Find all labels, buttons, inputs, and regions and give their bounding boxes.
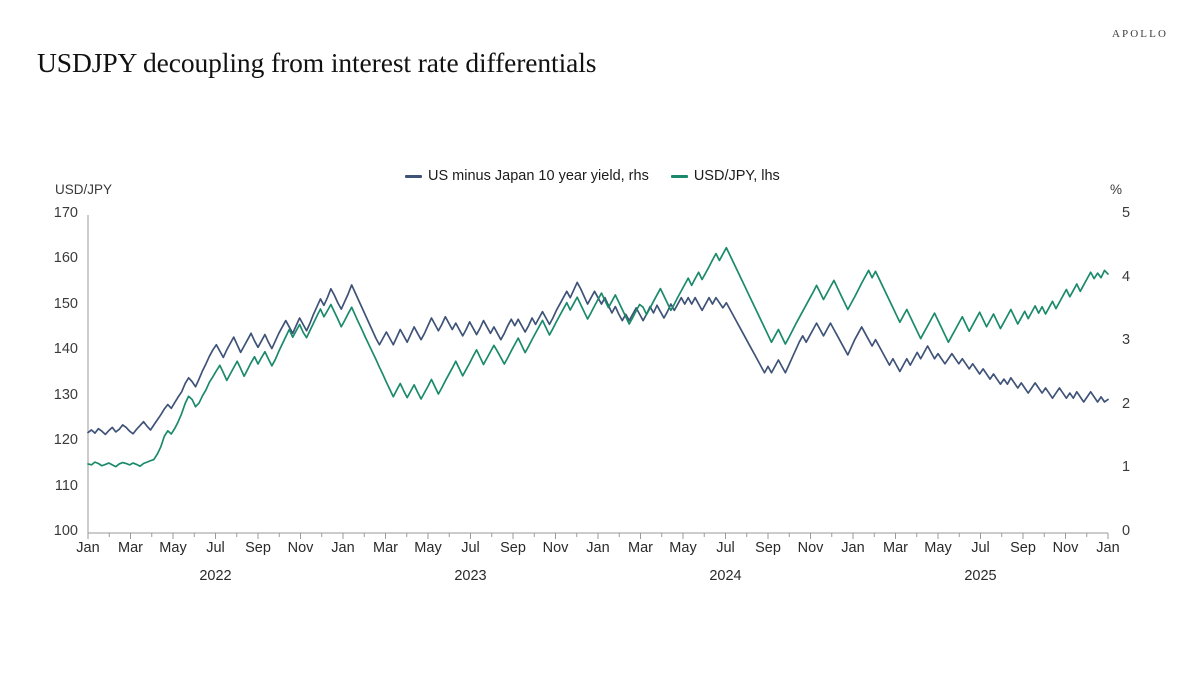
axis-group <box>88 215 1108 533</box>
x-axis-tick-label: May <box>414 540 441 556</box>
right-axis-tick-label: 2 <box>1122 396 1146 412</box>
legend-item-yield: US minus Japan 10 year yield, rhs <box>405 168 649 184</box>
x-axis-tick-label: Jan <box>76 540 99 556</box>
x-axis-tick-label: Mar <box>883 540 908 556</box>
page-title: USDJPY decoupling from interest rate dif… <box>37 47 596 79</box>
left-axis-tick-label: 150 <box>34 296 78 312</box>
x-axis-tick-label: May <box>159 540 186 556</box>
x-axis-tick-label: Sep <box>245 540 271 556</box>
x-axis-tick-label: Jan <box>841 540 864 556</box>
x-axis-tick-label: Mar <box>118 540 143 556</box>
x-axis-tick-label: Jul <box>716 540 735 556</box>
x-axis-tick-label: Nov <box>543 540 569 556</box>
left-axis-tick-label: 140 <box>34 341 78 357</box>
left-axis-unit: USD/JPY <box>55 182 112 197</box>
x-axis-tick-label: Sep <box>500 540 526 556</box>
legend-label-yield: US minus Japan 10 year yield, rhs <box>428 168 649 184</box>
apollo-logo: APOLLO <box>1112 28 1168 40</box>
right-axis-tick-label: 4 <box>1122 269 1146 285</box>
x-axis-tick-label: Jul <box>971 540 990 556</box>
x-tick-marks <box>88 533 1108 539</box>
chart-legend: US minus Japan 10 year yield, rhs USD/JP… <box>405 168 780 184</box>
right-axis-tick-label: 5 <box>1122 205 1146 221</box>
x-axis-tick-label: Jan <box>331 540 354 556</box>
legend-swatch-yield <box>405 175 422 178</box>
x-axis-tick-label: May <box>924 540 951 556</box>
legend-label-usdjpy: USD/JPY, lhs <box>694 168 780 184</box>
x-axis-tick-label: Mar <box>373 540 398 556</box>
x-axis-tick-label: Jan <box>586 540 609 556</box>
x-axis-year-label: 2022 <box>199 568 231 584</box>
right-axis-tick-label: 3 <box>1122 332 1146 348</box>
x-axis-tick-label: May <box>669 540 696 556</box>
x-axis-tick-label: Jul <box>461 540 480 556</box>
x-axis-tick-label: Sep <box>1010 540 1036 556</box>
legend-item-usdjpy: USD/JPY, lhs <box>671 168 780 184</box>
x-axis-tick-label: Jul <box>206 540 225 556</box>
x-axis-tick-label: Mar <box>628 540 653 556</box>
right-axis-unit: % <box>1110 182 1122 197</box>
right-axis-tick-label: 0 <box>1122 523 1146 539</box>
chart-plot-area <box>88 215 1108 533</box>
left-axis-tick-label: 120 <box>34 432 78 448</box>
left-axis-tick-label: 160 <box>34 250 78 266</box>
x-axis-tick-label: Nov <box>1053 540 1079 556</box>
x-axis-tick-label: Sep <box>755 540 781 556</box>
left-axis-tick-label: 110 <box>34 478 78 494</box>
right-axis-tick-label: 1 <box>1122 459 1146 475</box>
x-axis-year-label: 2023 <box>454 568 486 584</box>
left-axis-tick-label: 100 <box>34 523 78 539</box>
series-line-yield <box>88 282 1108 434</box>
x-axis-tick-label: Nov <box>288 540 314 556</box>
chart-svg <box>88 215 1108 533</box>
left-axis-tick-label: 130 <box>34 387 78 403</box>
x-axis-tick-label: Jan <box>1096 540 1119 556</box>
legend-swatch-usdjpy <box>671 175 688 178</box>
x-axis-tick-label: Nov <box>798 540 824 556</box>
x-axis-year-label: 2024 <box>709 568 741 584</box>
left-axis-tick-label: 170 <box>34 205 78 221</box>
x-axis-year-label: 2025 <box>964 568 996 584</box>
